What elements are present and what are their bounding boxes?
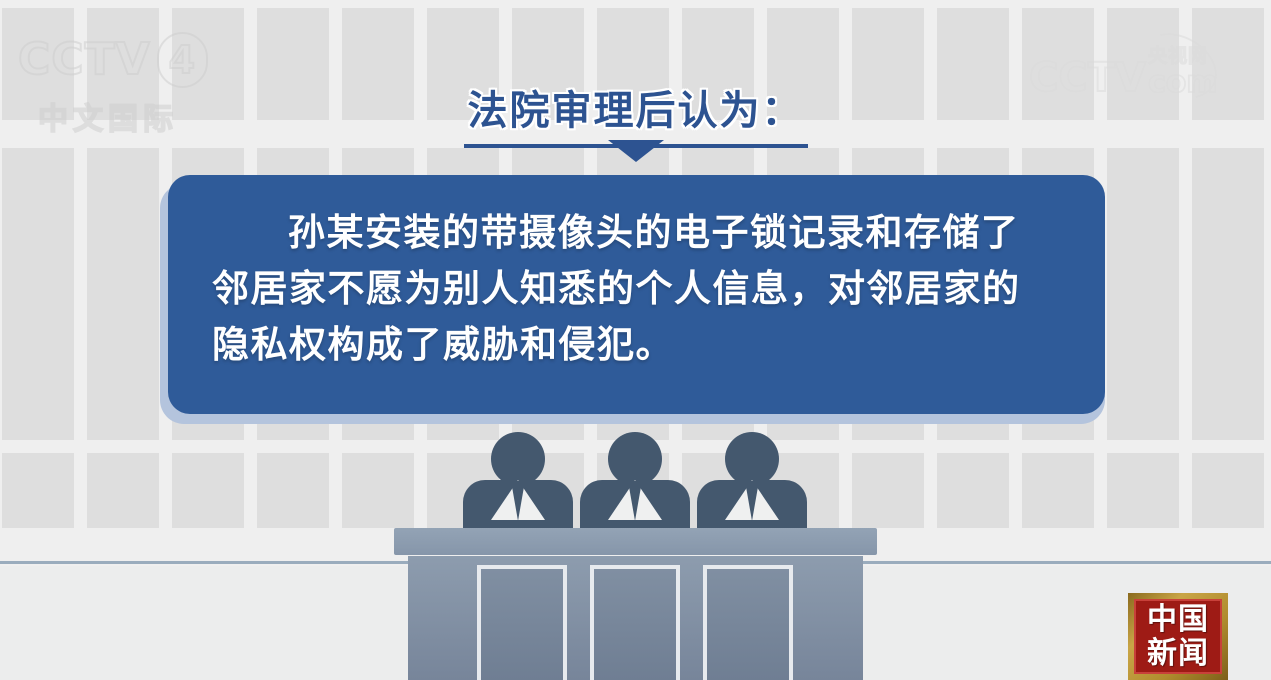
- judge-figure-left: [463, 432, 573, 537]
- bench-top-rail: [394, 528, 877, 555]
- program-badge-line2: 新闻: [1147, 638, 1209, 670]
- quote-line: 邻居家不愿为别人知悉的个人信息，对邻居家的: [212, 261, 1061, 317]
- judge-head: [725, 432, 779, 486]
- cctv4-letters: CCTV: [18, 38, 151, 82]
- wall-cornice-top: [0, 0, 1271, 8]
- broadcast-frame: CCTV 4 中文国际 CCTV 央视网 com 法院审理后认为： 孙某安装的带…: [0, 0, 1271, 680]
- judge-tie: [628, 481, 642, 521]
- judge-tie: [745, 481, 759, 521]
- bench-panel-right: [703, 565, 793, 680]
- judge-figure-right: [697, 432, 807, 537]
- quote-line: 孙某安装的带摄像头的电子锁记录和存储了: [212, 205, 1061, 261]
- judge-tie: [511, 481, 525, 521]
- bench-panel-center: [590, 565, 680, 680]
- judge-head: [608, 432, 662, 486]
- headline-text: 法院审理后认为：: [464, 78, 808, 148]
- judge-figures: [0, 432, 1271, 537]
- judge-figure-center: [580, 432, 690, 537]
- quote-line: 隐私权构成了威胁和侵犯。: [212, 317, 1061, 373]
- headline-arrow-down-icon: [608, 140, 664, 162]
- quote-box: 孙某安装的带摄像头的电子锁记录和存储了 邻居家不愿为别人知悉的个人信息，对邻居家…: [168, 175, 1105, 414]
- program-badge-inner: 中国 新闻: [1134, 599, 1222, 674]
- bench-panel-left: [477, 565, 567, 680]
- judge-head: [491, 432, 545, 486]
- headline: 法院审理后认为：: [0, 78, 1271, 148]
- program-badge: 中国 新闻: [1128, 593, 1228, 680]
- program-badge-line1: 中国: [1147, 604, 1209, 636]
